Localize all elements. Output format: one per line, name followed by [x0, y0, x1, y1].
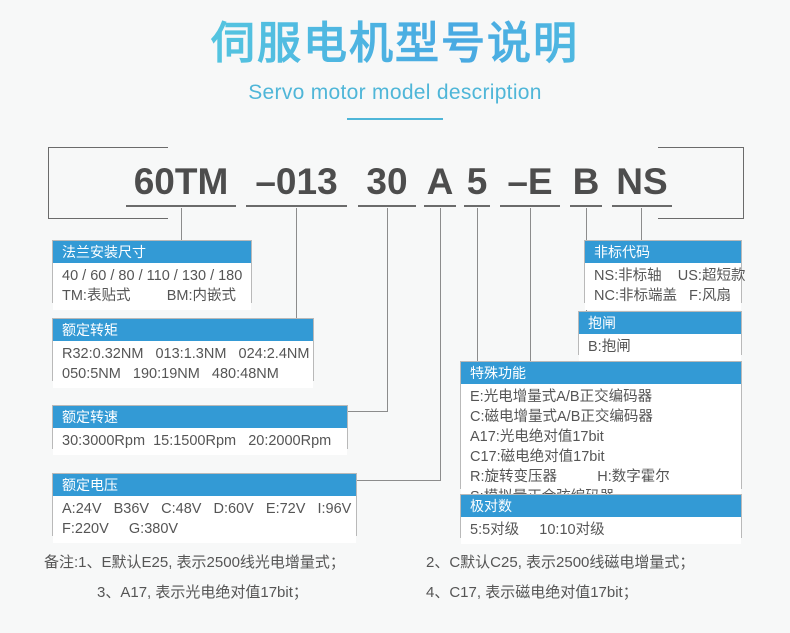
footnote-3: 3、A17, 表示光电绝对值17bit； [97, 578, 308, 608]
info-box-torque-body: R32:0.32NM 013:1.3NM 024:2.4NM 050:5NM 1… [53, 341, 313, 388]
footnote-2: 2、C默认C25, 表示2500线磁电增量式； [426, 548, 694, 578]
info-box-nonstandard-body: NS:非标轴 US:超短款 NC:非标端盖 F:风扇 [585, 263, 741, 310]
info-box-special: 特殊功能 E:光电增量式A/B正交编码器 C:磁电增量式A/B正交编码器 A17… [460, 361, 742, 489]
footnote-row-2: 3、A17, 表示光电绝对值17bit； 4、C17, 表示磁电绝对值17bit… [0, 578, 790, 608]
connector-speed-vertical [387, 208, 388, 411]
title-underline-rule [347, 118, 443, 120]
info-box-poles-header: 极对数 [461, 495, 741, 517]
info-line: NS:非标轴 US:超短款 [594, 266, 733, 286]
info-line: TM:表贴式 BM:内嵌式 [62, 286, 243, 306]
info-box-speed-header: 额定转速 [53, 406, 347, 428]
info-line: 40 / 60 / 80 / 110 / 130 / 180 [62, 266, 243, 286]
info-line: R32:0.32NM 013:1.3NM 024:2.4NM [62, 344, 305, 364]
model-number-row: 60TM –013 30 A 5 –E B NS [0, 160, 790, 210]
diagram-canvas: 伺服电机型号说明 Servo motor model description 6… [0, 0, 790, 633]
info-line: 050:5NM 190:19NM 480:48NM [62, 364, 305, 384]
info-line: A17:光电绝对值17bit [470, 427, 733, 447]
info-line: C:磁电增量式A/B正交编码器 [470, 407, 733, 427]
footnote-1: 备注:1、E默认E25, 表示2500线光电增量式； [44, 548, 345, 578]
info-box-voltage-body: A:24V B36V C:48V D:60V E:72V I:96V F:220… [53, 496, 356, 543]
model-segment-special[interactable]: –E [500, 160, 560, 207]
info-line: 30:3000Rpm 15:1500Rpm 20:2000Rpm [62, 431, 339, 451]
model-segment-brake[interactable]: B [570, 160, 602, 207]
info-box-poles: 极对数 5:5对级 10:10对级 [460, 494, 742, 538]
connector-torque-vertical [296, 208, 297, 323]
info-line: NC:非标端盖 F:风扇 [594, 286, 733, 306]
model-segment-voltage[interactable]: A [424, 160, 456, 207]
info-box-nonstandard: 非标代码 NS:非标轴 US:超短款 NC:非标端盖 F:风扇 [584, 240, 742, 303]
info-box-brake: 抱闸 B:抱闸 [578, 311, 742, 355]
info-box-poles-body: 5:5对级 10:10对级 [461, 517, 741, 544]
connector-voltage-vertical [440, 208, 441, 480]
info-box-brake-header: 抱闸 [579, 312, 741, 334]
info-box-flange: 法兰安装尺寸 40 / 60 / 80 / 110 / 130 / 180 TM… [52, 240, 252, 303]
page-subtitle-english: Servo motor model description [0, 80, 790, 106]
info-line: B:抱闸 [588, 337, 733, 357]
connector-nonstandard-vertical [641, 208, 642, 240]
model-segment-flange[interactable]: 60TM [126, 160, 236, 207]
info-box-torque: 额定转矩 R32:0.32NM 013:1.3NM 024:2.4NM 050:… [52, 318, 314, 381]
info-line: 5:5对级 10:10对级 [470, 520, 733, 540]
connector-special-vertical [530, 208, 531, 361]
connector-voltage-horizontal [350, 480, 441, 481]
model-segment-nonstandard[interactable]: NS [612, 160, 672, 207]
info-box-nonstandard-header: 非标代码 [585, 241, 741, 263]
info-box-special-header: 特殊功能 [461, 362, 741, 384]
footnote-row-1: 备注:1、E默认E25, 表示2500线光电增量式； 2、C默认C25, 表示2… [0, 548, 790, 578]
info-line: C17:磁电绝对值17bit [470, 447, 733, 467]
footnotes: 备注:1、E默认E25, 表示2500线光电增量式； 2、C默认C25, 表示2… [0, 548, 790, 608]
page-title-chinese: 伺服电机型号说明 [0, 18, 790, 70]
model-segment-speed[interactable]: 30 [358, 160, 416, 207]
info-box-speed-body: 30:3000Rpm 15:1500Rpm 20:2000Rpm [53, 428, 347, 455]
info-line: E:光电增量式A/B正交编码器 [470, 387, 733, 407]
info-box-voltage-header: 额定电压 [53, 474, 356, 496]
info-box-torque-header: 额定转矩 [53, 319, 313, 341]
model-segment-torque[interactable]: –013 [246, 160, 347, 207]
info-box-speed: 额定转速 30:3000Rpm 15:1500Rpm 20:2000Rpm [52, 405, 348, 449]
info-box-flange-body: 40 / 60 / 80 / 110 / 130 / 180 TM:表贴式 BM… [53, 263, 251, 310]
info-box-flange-header: 法兰安装尺寸 [53, 241, 251, 263]
info-box-brake-body: B:抱闸 [579, 334, 741, 361]
model-segment-poles[interactable]: 5 [464, 160, 490, 207]
info-box-special-body: E:光电增量式A/B正交编码器 C:磁电增量式A/B正交编码器 A17:光电绝对… [461, 384, 741, 511]
info-line: R:旋转变压器 H:数字霍尔 [470, 467, 733, 487]
footnote-4: 4、C17, 表示磁电绝对值17bit； [426, 578, 638, 608]
info-line: F:220V G:380V [62, 519, 348, 539]
info-box-voltage: 额定电压 A:24V B36V C:48V D:60V E:72V I:96V … [52, 473, 357, 536]
info-line: A:24V B36V C:48V D:60V E:72V I:96V [62, 499, 348, 519]
